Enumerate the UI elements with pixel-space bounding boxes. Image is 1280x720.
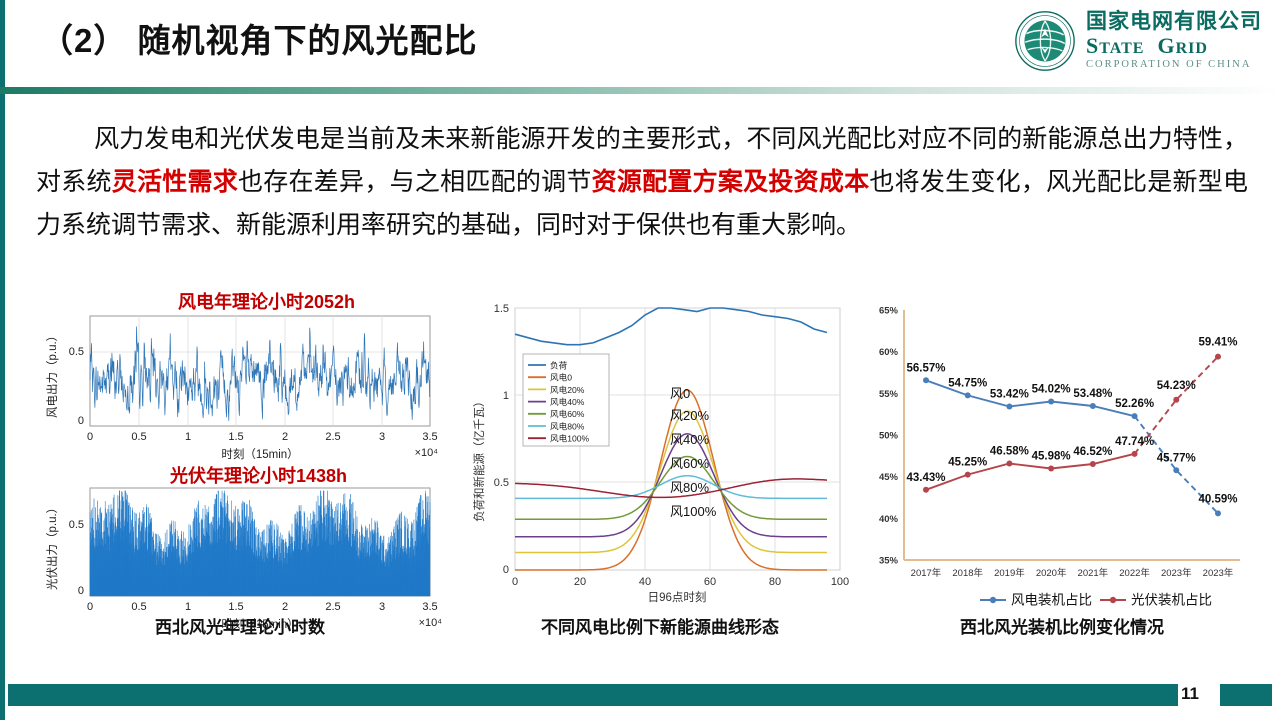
wind-xtick-05: 0.5 (131, 431, 146, 443)
cs-legend-label-1: 风电0 (550, 372, 572, 383)
cap-xtick-4: 2021年 (1078, 567, 1109, 579)
cs-xtick-100: 100 (831, 576, 849, 588)
cap-ytick-45%: 45% (879, 472, 899, 483)
cap-xtick-6: 2023年 (1161, 567, 1192, 579)
state-grid-logo: 国家电网有限公司 STATE GRID CORPORATION OF CHINA (1014, 6, 1262, 76)
wind-ytick-0: 0 (78, 415, 84, 427)
page-number: 11 (1168, 684, 1212, 704)
capacity-share-chart: 35%40%45%50%55%60%65% 2017年2018年2019年202… (862, 292, 1262, 622)
cap-ytick-60%: 60% (879, 347, 899, 358)
cap-point-0-6 (1173, 467, 1179, 473)
cap-value-label-0-7: 40.59% (1198, 493, 1237, 505)
cs-ytick-1: 1 (503, 390, 509, 402)
cap-xtick-5: 2022年 (1119, 567, 1150, 579)
logo-en-rid: RID (1176, 40, 1208, 57)
logo-en-s: S (1086, 33, 1099, 58)
cs-xtick-0: 0 (512, 576, 518, 588)
cs-yaxis-label: 负荷和新能源（亿千瓦） (472, 396, 486, 523)
paragraph-highlight-1: 灵活性需求 (112, 168, 238, 196)
cap-ytick-35%: 35% (879, 556, 899, 567)
cap-value-label-0-5: 52.26% (1115, 398, 1154, 410)
curve-shapes-axes: 1.5 1 0.5 0 0 20 40 60 80 100 日96点时刻 负荷和… (472, 303, 849, 604)
wind-xaxis-label: 时刻（15min） (221, 447, 298, 461)
cap-value-label-1-6: 54.23% (1157, 380, 1196, 392)
solar-xtick-35: 3.5 (422, 601, 437, 613)
cap-legend-label-1: 光伏装机占比 (1131, 593, 1212, 608)
capacity-share-value-labels: 56.57%54.75%53.42%54.02%53.48%52.26%45.7… (906, 337, 1237, 506)
cap-value-label-0-2: 53.42% (990, 389, 1029, 401)
cs-xtick-40: 40 (639, 576, 651, 588)
wind-yaxis-label: 风电出力（p.u.） (45, 330, 59, 418)
cap-point-1-3 (1048, 466, 1054, 472)
capacity-share-legend: 风电装机占比光伏装机占比 (980, 593, 1212, 608)
cap-xtick-3: 2020年 (1036, 567, 1067, 579)
footer-bar-left (8, 684, 1178, 706)
cap-xtick-0: 2017年 (911, 567, 942, 579)
cs-annotation-4: 风80% (670, 480, 709, 495)
wind-xtick-3: 3 (379, 431, 385, 443)
cap-point-1-0 (923, 487, 929, 493)
cs-xtick-60: 60 (704, 576, 716, 588)
cap-point-0-2 (1006, 404, 1012, 410)
solar-xtick-2: 2 (282, 601, 288, 613)
cap-ytick-65%: 65% (879, 306, 899, 317)
figure-2-caption: 不同风电比例下新能源曲线形态 (465, 613, 855, 638)
cap-value-label-1-5: 47.74% (1115, 436, 1154, 448)
figure-capacity-share: 35%40%45%50%55%60%65% 2017年2018年2019年202… (862, 292, 1262, 682)
cap-point-0-7 (1215, 510, 1221, 516)
cs-xaxis-label: 日96点时刻 (648, 590, 707, 604)
cap-point-1-5 (1132, 451, 1138, 457)
wind-xtick-25: 2.5 (325, 431, 340, 443)
paragraph-segment-2: 也存在差异，与之相匹配的调节 (238, 168, 592, 196)
wind-subplot: 0.5 0 0 0.5 1 1.5 2 2.5 3 3.5 时刻（15min） … (45, 316, 438, 461)
solar-ytick-0: 0 (78, 585, 84, 597)
cap-point-1-4 (1090, 461, 1096, 467)
cs-legend-label-0: 负荷 (550, 359, 568, 370)
cap-value-label-0-1: 54.75% (948, 377, 987, 389)
cs-xtick-20: 20 (574, 576, 586, 588)
figures-row: 风电年理论小时2052h 0.5 0 0 0.5 1 1.5 (0, 292, 1280, 682)
cap-value-label-1-2: 46.58% (990, 446, 1029, 458)
solar-xtick-3: 3 (379, 601, 385, 613)
cap-point-0-5 (1132, 413, 1138, 419)
wind-annual-hours-label: 风电年理论小时2052h (178, 292, 355, 312)
cs-legend-label-6: 风电100% (550, 433, 590, 444)
wind-xtick-1: 1 (185, 431, 191, 443)
solar-xtick-0: 0 (87, 601, 93, 613)
cs-annotation-2: 风40% (670, 432, 709, 447)
figure-curve-shapes: 1.5 1 0.5 0 0 20 40 60 80 100 日96点时刻 负荷和… (465, 292, 855, 682)
cs-ytick-0: 0 (503, 564, 509, 576)
solar-subplot: 0.5 0 0 0.5 1 1.5 2 2.5 3 3.5 时刻（15min） … (45, 488, 442, 631)
cap-value-label-0-6: 45.77% (1157, 452, 1196, 464)
cap-value-label-1-1: 45.25% (948, 457, 987, 469)
paragraph-highlight-2: 资源配置方案及投资成本 (592, 168, 870, 196)
logo-company-en: STATE GRID (1086, 35, 1262, 57)
cs-ytick-05: 0.5 (494, 477, 509, 489)
figure-1-caption: 西北风光年理论小时数 (30, 613, 450, 638)
cap-value-label-1-0: 43.43% (906, 472, 945, 484)
wind-xtick-0: 0 (87, 431, 93, 443)
solar-xtick-05: 0.5 (131, 601, 146, 613)
logo-company-cn: 国家电网有限公司 (1086, 11, 1262, 32)
cap-legend-label-0: 风电装机占比 (1011, 593, 1092, 608)
cap-value-label-0-4: 53.48% (1073, 388, 1112, 400)
cs-xtick-80: 80 (769, 576, 781, 588)
state-grid-seal-icon (1014, 10, 1076, 72)
cap-point-1-2 (1006, 461, 1012, 467)
solar-ytick-05: 0.5 (69, 519, 84, 531)
cap-ytick-40%: 40% (879, 514, 899, 525)
solar-xtick-15: 1.5 (228, 601, 243, 613)
wind-xtick-15: 1.5 (228, 431, 243, 443)
cap-ytick-55%: 55% (879, 389, 899, 400)
cs-annotation-3: 风60% (670, 456, 709, 471)
logo-en-tate: TATE (1099, 40, 1144, 57)
cap-point-1-7 (1215, 354, 1221, 360)
cs-annotation-1: 风20% (670, 408, 709, 423)
cap-point-0-3 (1048, 399, 1054, 405)
cap-legend-marker-0 (990, 597, 996, 603)
cap-value-label-0-0: 56.57% (906, 362, 945, 374)
logo-company-sub: CORPORATION OF CHINA (1086, 60, 1262, 71)
figure-annual-hours: 风电年理论小时2052h 0.5 0 0 0.5 1 1.5 (30, 292, 450, 682)
cap-legend-marker-1 (1110, 597, 1116, 603)
cap-value-label-1-3: 45.98% (1032, 451, 1071, 463)
footer-bar-right (1220, 684, 1272, 706)
wind-ytick-05: 0.5 (69, 346, 84, 358)
curve-shapes-chart: 1.5 1 0.5 0 0 20 40 60 80 100 日96点时刻 负荷和… (465, 292, 855, 622)
solar-yaxis-label: 光伏出力（p.u.） (45, 502, 59, 590)
solar-xtick-1: 1 (185, 601, 191, 613)
page-title: （2） 随机视角下的风光配比 (40, 14, 478, 62)
slide-root: （2） 随机视角下的风光配比 国家电网有限公司 STATE GRID CORPO… (0, 0, 1280, 720)
cap-xtick-2: 2019年 (994, 567, 1025, 579)
figure-3-caption: 西北风光装机比例变化情况 (862, 613, 1262, 638)
cs-legend-label-4: 风电60% (550, 408, 585, 419)
solar-xtick-25: 2.5 (325, 601, 340, 613)
cs-legend-label-5: 风电80% (550, 420, 585, 431)
cap-point-0-1 (965, 392, 971, 398)
body-paragraph: 风力发电和光伏发电是当前及未来新能源开发的主要形式，不同风光配比对应不同的新能源… (36, 118, 1248, 247)
cap-ytick-50%: 50% (879, 431, 899, 442)
cap-point-0-4 (1090, 403, 1096, 409)
cap-xtick-7: 2023年 (1203, 567, 1234, 579)
cs-legend-label-3: 风电40% (550, 396, 585, 407)
wind-xtick-35: 3.5 (422, 431, 437, 443)
cs-ytick-15: 1.5 (494, 303, 509, 315)
cs-annotation-0: 风0 (670, 386, 690, 401)
wind-x-exponent: ×10⁴ (415, 447, 439, 459)
cap-point-1-6 (1173, 397, 1179, 403)
cap-xtick-1: 2018年 (952, 567, 983, 579)
wind-xtick-2: 2 (282, 431, 288, 443)
annual-hours-chart: 风电年理论小时2052h 0.5 0 0 0.5 1 1.5 (30, 292, 450, 632)
solar-annual-hours-label: 光伏年理论小时1438h (169, 465, 347, 486)
cap-value-label-0-3: 54.02% (1032, 384, 1071, 396)
cs-legend-label-2: 风电20% (550, 384, 585, 395)
cap-value-label-1-7: 59.41% (1198, 337, 1237, 349)
header-divider (0, 87, 1280, 94)
cap-value-label-1-4: 46.52% (1073, 446, 1112, 458)
cs-annotation-5: 风100% (670, 504, 717, 519)
curve-shapes-legend: 负荷风电0风电20%风电40%风电60%风电80%风电100% (523, 354, 609, 446)
capacity-share-axes: 35%40%45%50%55%60%65% 2017年2018年2019年202… (879, 306, 1240, 580)
cap-point-0-0 (923, 377, 929, 383)
cap-point-1-1 (965, 472, 971, 478)
logo-en-g: G (1157, 33, 1175, 58)
